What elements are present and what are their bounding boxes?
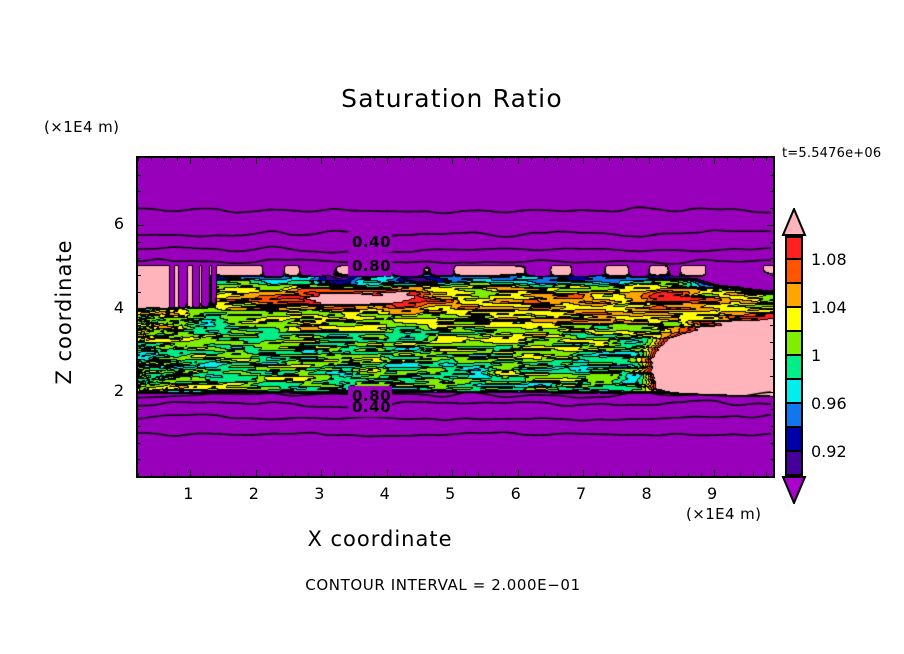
x-axis-minor-tick	[636, 473, 637, 478]
colorbar-tick-label: 1.04	[811, 298, 847, 317]
y-axis-minor-tick-right	[770, 325, 775, 326]
x-axis-minor-tick-top	[203, 156, 204, 161]
x-axis-minor-tick-top	[557, 156, 558, 161]
y-axis-minor-tick	[136, 191, 141, 192]
y-axis-minor-tick-right	[770, 342, 775, 343]
x-axis-minor-tick-top	[701, 156, 702, 161]
x-tick-label: 5	[435, 484, 465, 503]
x-axis-minor-tick-top	[596, 156, 597, 161]
y-axis-major-tick	[136, 309, 144, 310]
x-axis-minor-tick-top	[347, 156, 348, 161]
x-axis-minor-tick-top	[439, 156, 440, 161]
x-axis-minor-tick	[740, 473, 741, 478]
colorbar-band	[785, 236, 803, 260]
y-axis-minor-tick-right	[770, 459, 775, 460]
x-axis-minor-tick-top	[492, 156, 493, 161]
colorbar-band	[785, 260, 803, 284]
x-axis-minor-tick	[295, 473, 296, 478]
x-axis-minor-tick	[413, 473, 414, 478]
colorbar-band	[785, 332, 803, 356]
x-axis-major-tick	[256, 470, 257, 478]
x-axis-major-tick	[387, 470, 388, 478]
x-axis-minor-tick-top	[609, 156, 610, 161]
x-axis-minor-tick-top	[295, 156, 296, 161]
x-axis-major-tick	[190, 470, 191, 478]
x-axis-minor-tick	[557, 473, 558, 478]
y-axis-minor-tick-right	[770, 426, 775, 427]
y-axis-major-tick-right	[767, 309, 775, 310]
x-axis-unit-label: (×1E4 m)	[686, 505, 761, 523]
colorbar-tick-label: 1	[811, 346, 821, 365]
x-axis-minor-tick-top	[374, 156, 375, 161]
y-tick-label: 4	[98, 298, 124, 317]
x-axis-minor-tick	[727, 473, 728, 478]
colorbar-band	[785, 308, 803, 332]
x-axis-minor-tick-top	[688, 156, 689, 161]
y-axis-major-tick	[136, 225, 144, 226]
colorbar-band	[785, 380, 803, 404]
x-axis-minor-tick-top	[308, 156, 309, 161]
x-axis-minor-tick	[531, 473, 532, 478]
x-axis-minor-tick-top	[177, 156, 178, 161]
colorbar-tick-label: 0.92	[811, 442, 847, 461]
y-tick-label: 2	[98, 381, 124, 400]
x-tick-label: 1	[173, 484, 203, 503]
y-axis-minor-tick-right	[770, 275, 775, 276]
x-axis-minor-tick-top	[465, 156, 466, 161]
z-axis-unit-label: (×1E4 m)	[44, 118, 119, 136]
x-axis-minor-tick	[465, 473, 466, 478]
x-axis-minor-tick	[596, 473, 597, 478]
x-axis-minor-tick-top	[151, 156, 152, 161]
x-axis-minor-tick-top	[269, 156, 270, 161]
contour-line-label: 0.40	[352, 233, 391, 251]
x-axis-minor-tick	[675, 473, 676, 478]
y-axis-minor-tick	[136, 342, 141, 343]
x-axis-minor-tick	[374, 473, 375, 478]
x-axis-minor-tick	[308, 473, 309, 478]
y-axis-title: Z coordinate	[52, 212, 76, 412]
x-axis-minor-tick	[439, 473, 440, 478]
colorbar-band	[785, 356, 803, 380]
x-axis-minor-tick	[426, 473, 427, 478]
colorbar-band	[785, 428, 803, 452]
x-axis-minor-tick-top	[478, 156, 479, 161]
x-axis-minor-tick-top	[662, 156, 663, 161]
colorbar-tick-label: 0.96	[811, 394, 847, 413]
y-axis-major-tick-right	[767, 476, 775, 477]
contour-line-label: 0.80	[352, 257, 391, 275]
x-axis-major-tick-top	[256, 156, 257, 164]
x-axis-major-tick-top	[321, 156, 322, 164]
x-axis-minor-tick-top	[138, 156, 139, 161]
x-axis-minor-tick-top	[622, 156, 623, 161]
x-axis-minor-tick-top	[544, 156, 545, 161]
x-tick-label: 8	[632, 484, 662, 503]
x-axis-title: X coordinate	[0, 527, 760, 551]
x-axis-minor-tick	[400, 473, 401, 478]
y-axis-minor-tick-right	[770, 409, 775, 410]
x-axis-minor-tick	[662, 473, 663, 478]
x-axis-minor-tick	[753, 473, 754, 478]
x-axis-minor-tick-top	[164, 156, 165, 161]
x-axis-minor-tick	[478, 473, 479, 478]
x-axis-minor-tick	[151, 473, 152, 478]
y-axis-minor-tick	[136, 175, 141, 176]
x-axis-minor-tick	[544, 473, 545, 478]
x-axis-minor-tick-top	[675, 156, 676, 161]
x-axis-minor-tick	[622, 473, 623, 478]
x-tick-label: 3	[304, 484, 334, 503]
x-axis-minor-tick-top	[740, 156, 741, 161]
x-axis-minor-tick	[609, 473, 610, 478]
colorbar[interactable]: 1.081.0410.960.92	[781, 208, 805, 504]
x-axis-minor-tick-top	[505, 156, 506, 161]
colorbar-band	[785, 284, 803, 308]
x-axis-major-tick	[518, 470, 519, 478]
x-axis-minor-tick-top	[243, 156, 244, 161]
y-axis-minor-tick-right	[770, 359, 775, 360]
x-axis-minor-tick-top	[361, 156, 362, 161]
y-axis-minor-tick	[136, 409, 141, 410]
x-axis-minor-tick-top	[334, 156, 335, 161]
x-axis-minor-tick-top	[636, 156, 637, 161]
x-axis-minor-tick-top	[570, 156, 571, 161]
y-axis-major-tick	[136, 392, 144, 393]
x-axis-minor-tick-top	[282, 156, 283, 161]
y-axis-major-tick-right	[767, 392, 775, 393]
y-axis-minor-tick	[136, 376, 141, 377]
contour-interval-caption: CONTOUR INTERVAL = 2.000E−01	[0, 576, 886, 594]
x-axis-minor-tick	[347, 473, 348, 478]
x-axis-minor-tick-top	[426, 156, 427, 161]
y-axis-minor-tick-right	[770, 208, 775, 209]
y-axis-minor-tick	[136, 275, 141, 276]
colorbar-tick-label: 1.08	[811, 250, 847, 269]
y-axis-major-tick	[136, 476, 144, 477]
page-title: Saturation Ratio	[0, 84, 904, 113]
y-axis-minor-tick	[136, 242, 141, 243]
x-axis-minor-tick-top	[753, 156, 754, 161]
contour-field-canvas	[138, 158, 773, 476]
y-axis-minor-tick-right	[770, 376, 775, 377]
contour-plot-area[interactable]: 0.400.800.800.40	[136, 156, 775, 478]
x-axis-major-tick	[452, 470, 453, 478]
x-axis-major-tick-top	[190, 156, 191, 164]
x-axis-minor-tick-top	[400, 156, 401, 161]
y-axis-minor-tick	[136, 325, 141, 326]
y-axis-minor-tick-right	[770, 242, 775, 243]
y-axis-minor-tick	[136, 359, 141, 360]
x-tick-label: 4	[370, 484, 400, 503]
colorbar-bottom-cap	[781, 476, 807, 504]
y-axis-minor-tick	[136, 459, 141, 460]
time-annotation: t=5.5476e+06	[782, 146, 881, 161]
x-axis-minor-tick	[217, 473, 218, 478]
colorbar-top-cap	[781, 208, 807, 236]
y-axis-major-tick-right	[767, 225, 775, 226]
y-axis-minor-tick	[136, 292, 141, 293]
y-axis-minor-tick	[136, 443, 141, 444]
y-axis-minor-tick-right	[770, 292, 775, 293]
x-axis-minor-tick-top	[217, 156, 218, 161]
y-tick-label: 6	[98, 214, 124, 233]
x-axis-minor-tick	[269, 473, 270, 478]
y-axis-minor-tick	[136, 208, 141, 209]
x-axis-major-tick	[649, 470, 650, 478]
x-axis-minor-tick-top	[413, 156, 414, 161]
x-axis-major-tick-top	[649, 156, 650, 164]
x-tick-label: 2	[239, 484, 269, 503]
y-axis-minor-tick	[136, 426, 141, 427]
y-axis-minor-tick-right	[770, 443, 775, 444]
x-axis-major-tick	[714, 470, 715, 478]
colorbar-band	[785, 452, 803, 476]
x-axis-minor-tick-top	[531, 156, 532, 161]
x-axis-minor-tick	[230, 473, 231, 478]
x-axis-major-tick	[583, 470, 584, 478]
x-tick-label: 7	[566, 484, 596, 503]
x-axis-minor-tick	[361, 473, 362, 478]
colorbar-band	[785, 404, 803, 428]
x-axis-major-tick-top	[518, 156, 519, 164]
x-axis-minor-tick	[282, 473, 283, 478]
x-axis-minor-tick	[243, 473, 244, 478]
x-axis-minor-tick	[688, 473, 689, 478]
x-axis-minor-tick	[492, 473, 493, 478]
x-axis-minor-tick	[701, 473, 702, 478]
x-axis-minor-tick	[177, 473, 178, 478]
x-axis-minor-tick	[505, 473, 506, 478]
x-axis-major-tick-top	[387, 156, 388, 164]
x-axis-major-tick-top	[714, 156, 715, 164]
x-axis-minor-tick	[164, 473, 165, 478]
x-axis-major-tick-top	[583, 156, 584, 164]
x-axis-minor-tick-top	[766, 156, 767, 161]
x-axis-minor-tick-top	[727, 156, 728, 161]
x-tick-label: 9	[697, 484, 727, 503]
x-axis-minor-tick-top	[230, 156, 231, 161]
y-axis-minor-tick-right	[770, 175, 775, 176]
contour-line-label: 0.40	[352, 398, 391, 416]
x-axis-minor-tick	[334, 473, 335, 478]
x-axis-major-tick	[321, 470, 322, 478]
x-tick-label: 6	[501, 484, 531, 503]
y-axis-minor-tick-right	[770, 191, 775, 192]
x-axis-minor-tick	[570, 473, 571, 478]
y-axis-minor-tick-right	[770, 258, 775, 259]
x-axis-major-tick-top	[452, 156, 453, 164]
y-axis-minor-tick	[136, 258, 141, 259]
x-axis-minor-tick	[203, 473, 204, 478]
